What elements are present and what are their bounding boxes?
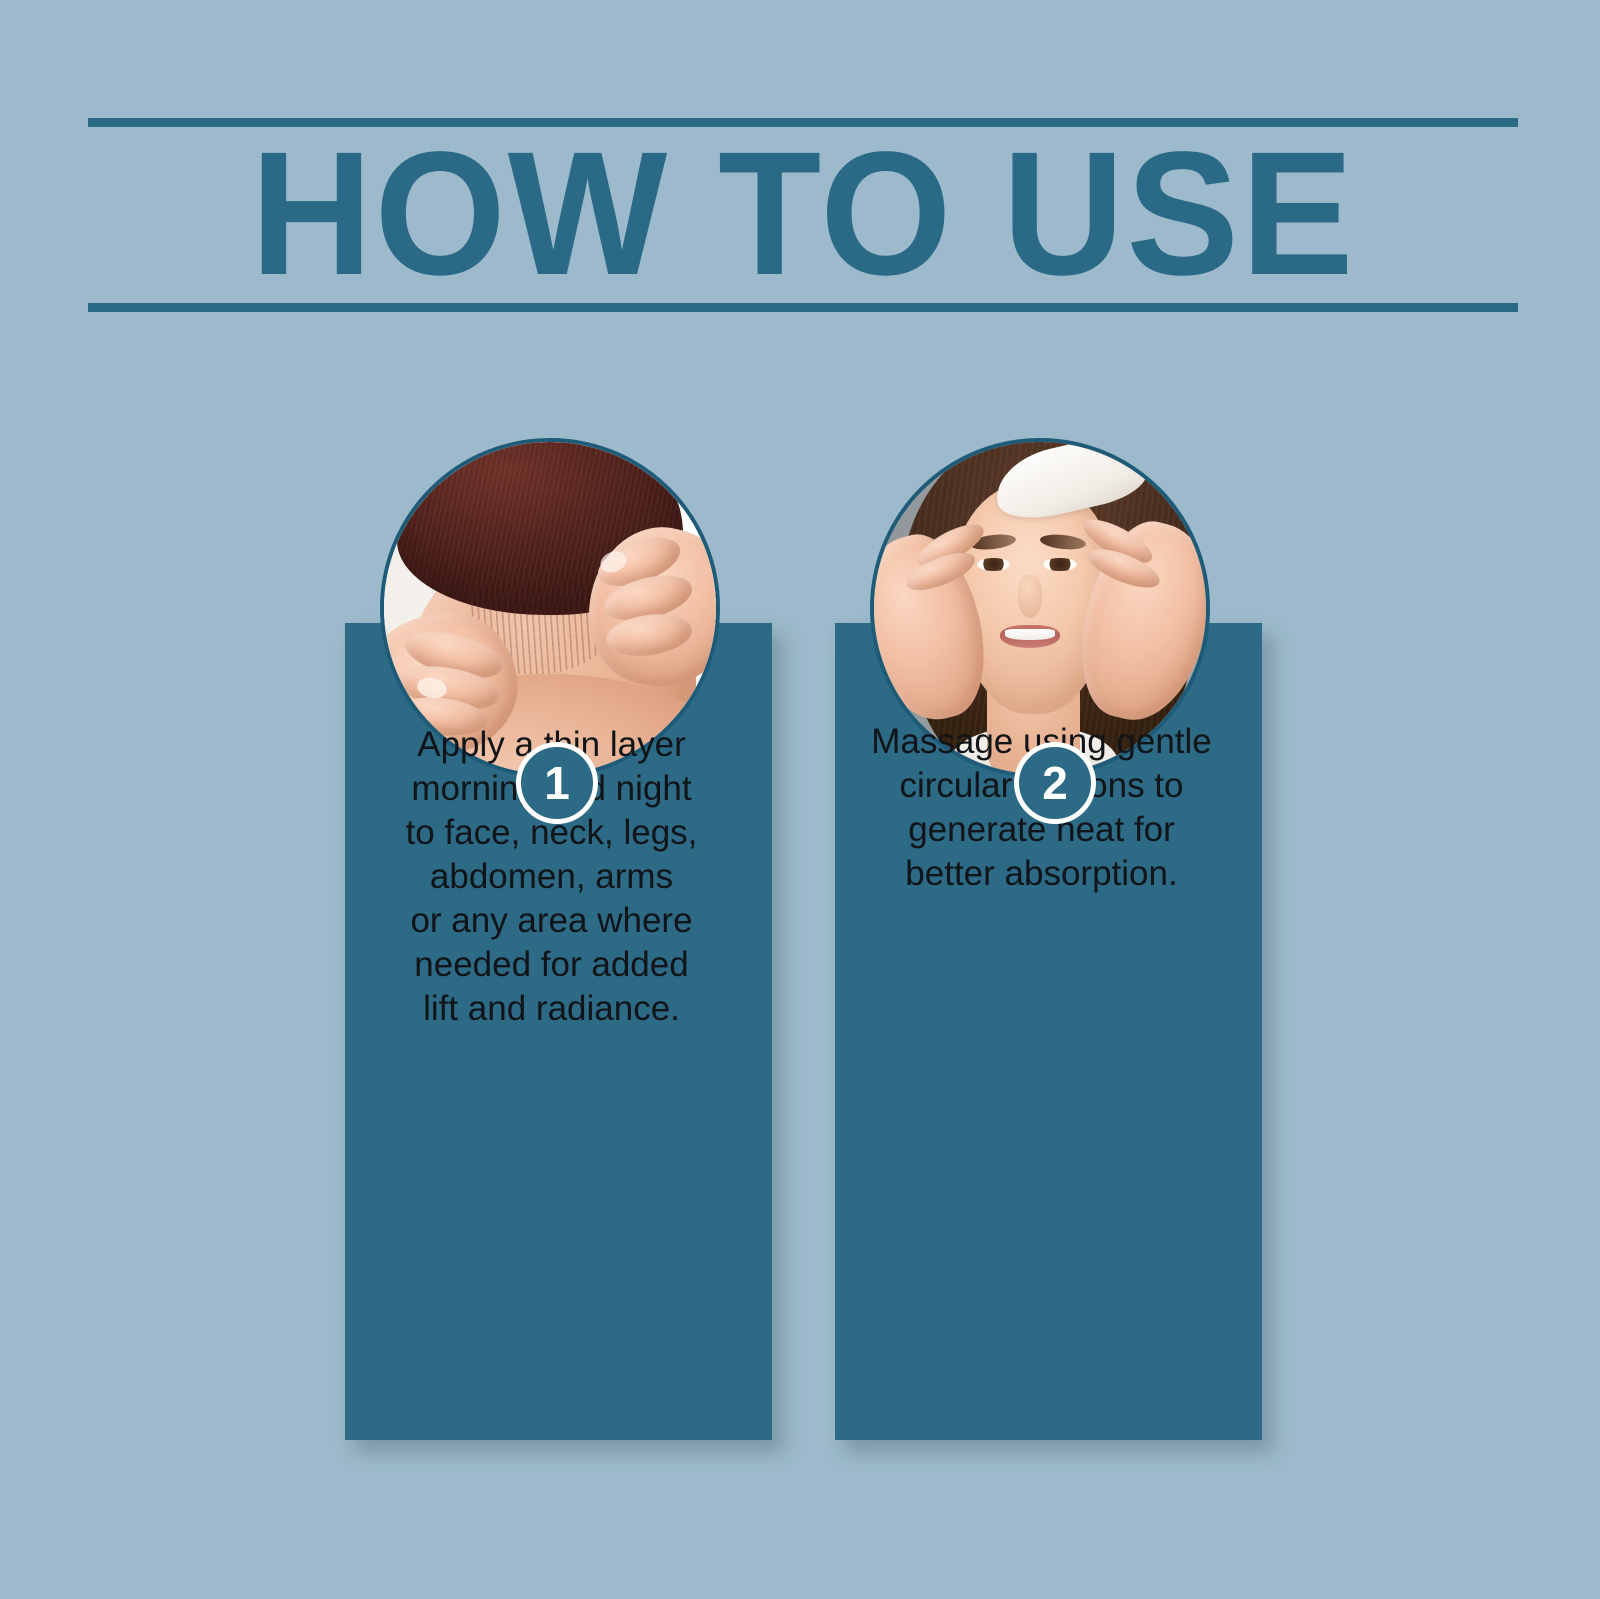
step-card-1: 1 Apply a thin layer morning and night t… <box>338 438 778 1448</box>
page-title: HOW TO USE <box>117 124 1490 304</box>
step-2-number-badge: 2 <box>1014 742 1096 824</box>
header-rule-bottom <box>88 303 1518 312</box>
photo-2-nose <box>1018 575 1041 618</box>
infographic-canvas: HOW TO USE 1 <box>0 0 1600 1599</box>
header: HOW TO USE <box>88 118 1518 312</box>
step-1-number-badge: 1 <box>516 742 598 824</box>
photo-2-teeth <box>1005 629 1055 640</box>
step-card-2: 2 Massage using gentle circular motions … <box>828 438 1268 1448</box>
